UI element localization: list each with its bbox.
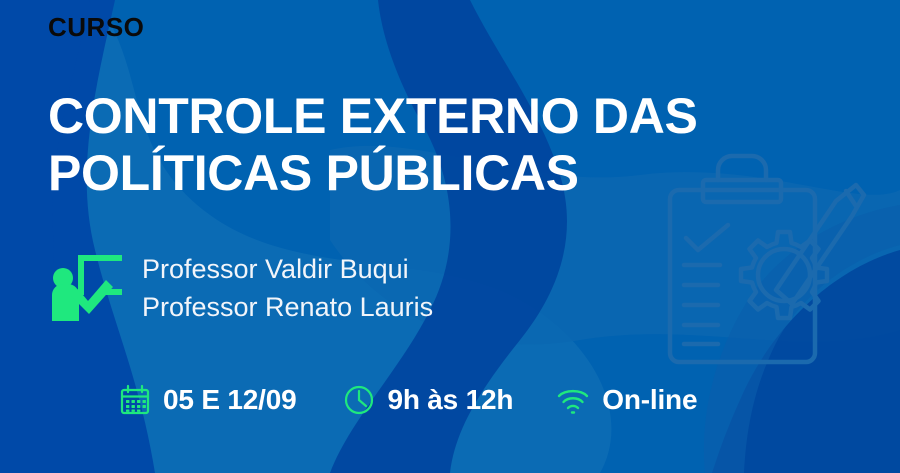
presenter-name-2: Professor Renato Lauris xyxy=(142,288,433,326)
event-time-label: 9h às 12h xyxy=(387,384,513,416)
title-line-1: CONTROLE EXTERNO DAS xyxy=(48,88,768,145)
clock-icon xyxy=(342,383,376,417)
wifi-icon xyxy=(555,383,591,417)
course-announcement-banner: CURSO CONTROLE EXTERNO DAS POLÍTICAS PÚB… xyxy=(0,0,900,473)
event-date-item: 05 E 12/09 xyxy=(118,383,296,417)
event-details-bar: 05 E 12/09 9h às 12h On-line xyxy=(118,383,697,417)
teacher-board-check-icon xyxy=(48,251,124,325)
banner-content: CURSO CONTROLE EXTERNO DAS POLÍTICAS PÚB… xyxy=(0,0,900,473)
presenters-block: Professor Valdir Buqui Professor Renato … xyxy=(48,250,433,327)
presenter-name-1: Professor Valdir Buqui xyxy=(142,250,433,288)
presenter-name-list: Professor Valdir Buqui Professor Renato … xyxy=(142,250,433,327)
kicker-label: CURSO xyxy=(48,13,144,42)
event-date-label: 05 E 12/09 xyxy=(163,384,296,416)
calendar-icon xyxy=(118,383,152,417)
event-mode-label: On-line xyxy=(602,384,697,416)
page-title: CONTROLE EXTERNO DAS POLÍTICAS PÚBLICAS xyxy=(48,88,768,201)
event-time-item: 9h às 12h xyxy=(342,383,513,417)
title-line-2: POLÍTICAS PÚBLICAS xyxy=(48,145,768,202)
event-mode-item: On-line xyxy=(555,383,697,417)
